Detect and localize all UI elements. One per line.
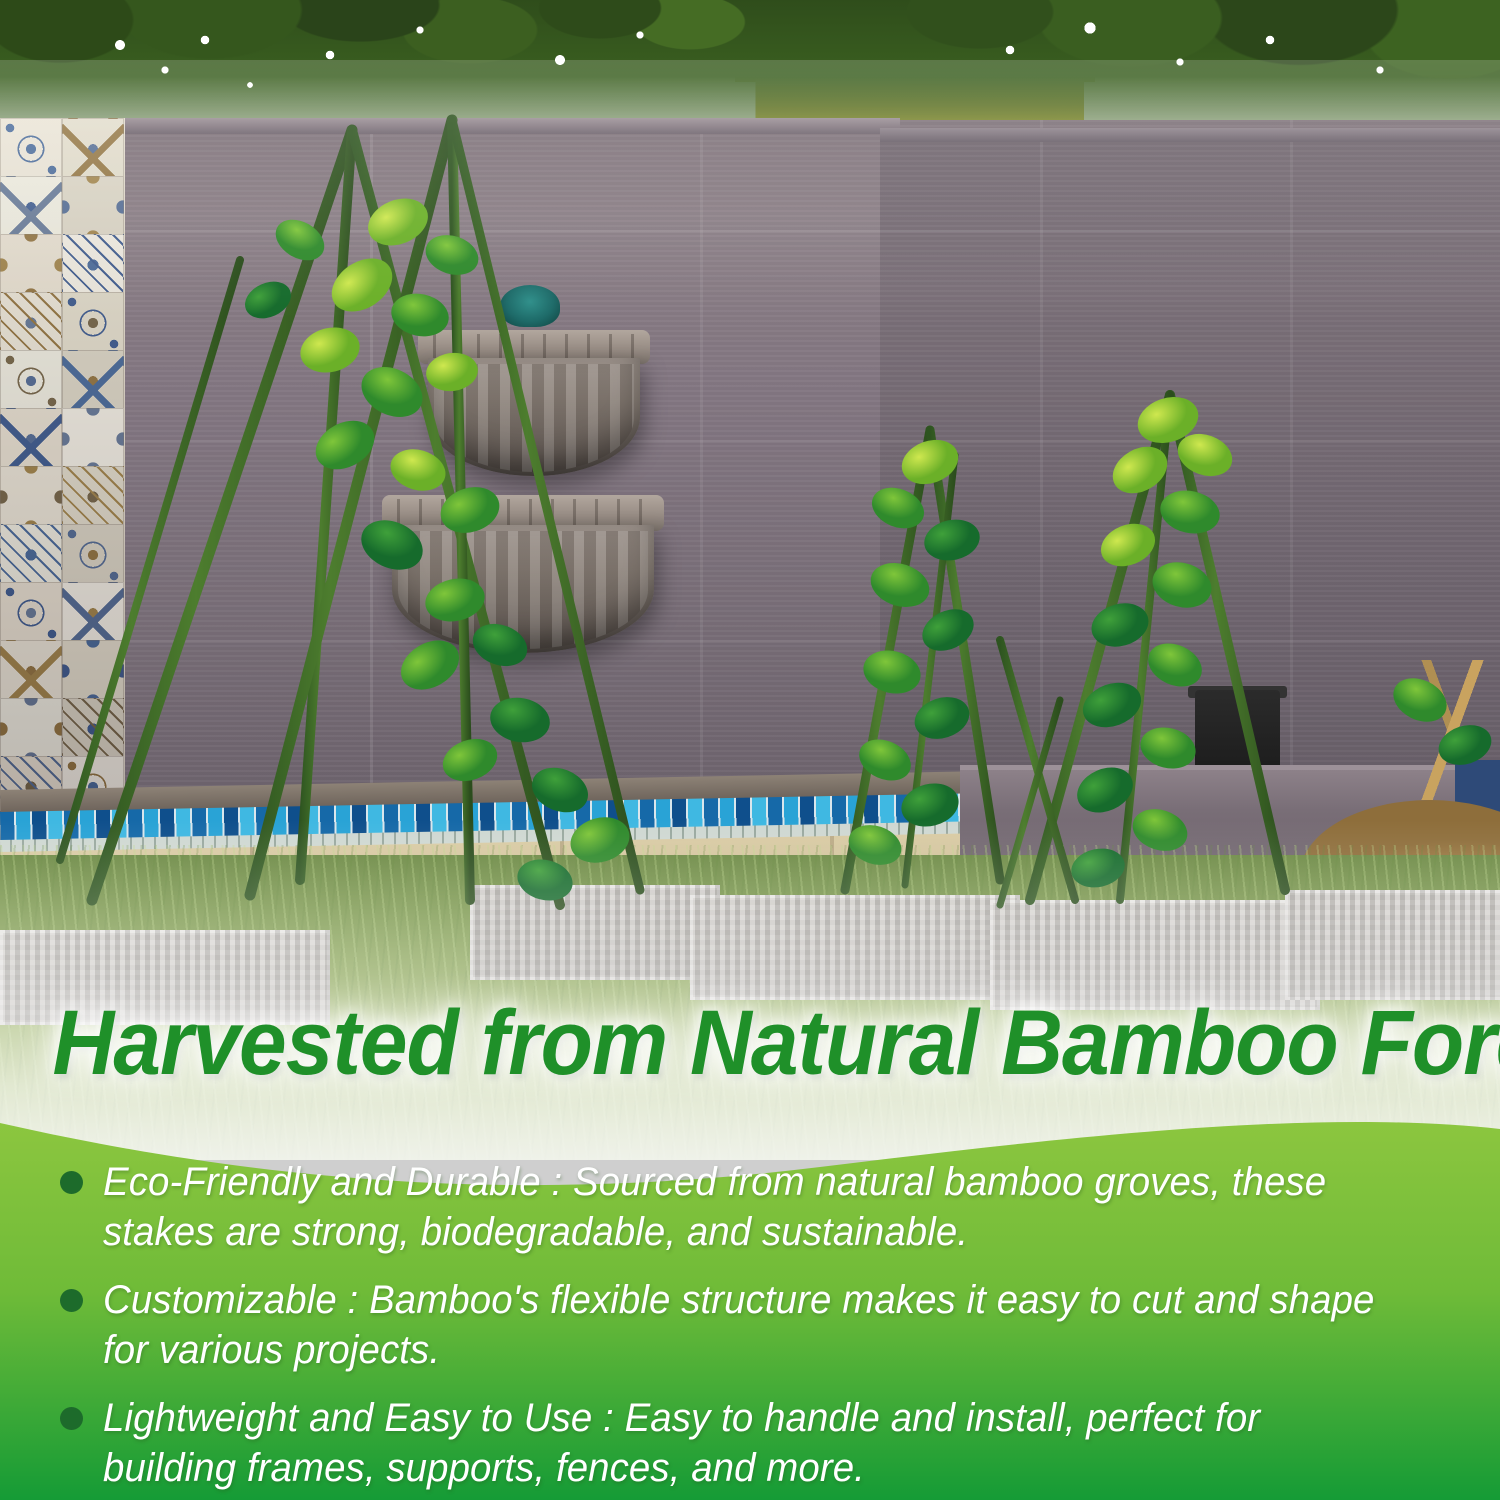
list-item: Lightweight and Easy to Use : Easy to ha…: [46, 1393, 1454, 1493]
headline: Harvested from Natural Bamboo Forests: [53, 995, 1448, 1091]
feature-bullet-list: Eco-Friendly and Durable : Sourced from …: [0, 1157, 1500, 1500]
product-lifestyle-photo: [0, 0, 1500, 1160]
bullet-dot-icon: [60, 1289, 83, 1312]
list-item: Customizable : Bamboo's flexible structu…: [46, 1275, 1454, 1375]
list-item: Eco-Friendly and Durable : Sourced from …: [46, 1157, 1454, 1257]
feature-text: Eco-Friendly and Durable : Sourced from …: [103, 1157, 1400, 1257]
upper-haze: [0, 60, 1500, 320]
feature-text: Customizable : Bamboo's flexible structu…: [103, 1275, 1400, 1375]
product-feature-card: Harvested from Natural Bamboo Forests Ec…: [0, 0, 1500, 1500]
feature-text: Lightweight and Easy to Use : Easy to ha…: [103, 1393, 1400, 1493]
bullet-dot-icon: [60, 1407, 83, 1430]
features-panel: Eco-Friendly and Durable : Sourced from …: [0, 1095, 1500, 1500]
bullet-dot-icon: [60, 1171, 83, 1194]
